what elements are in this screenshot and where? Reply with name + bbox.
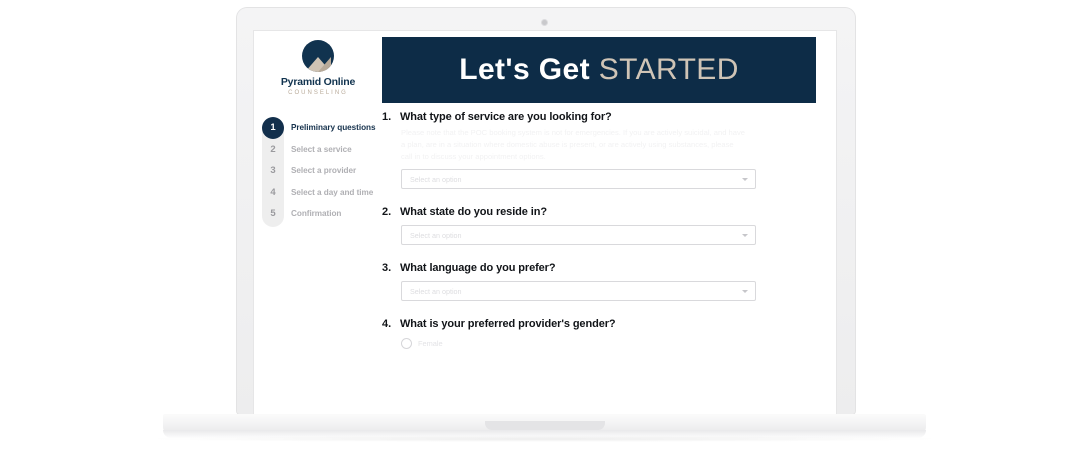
radio-label: Female (418, 339, 443, 348)
page-body: 1 Preliminary questions 2 Select a servi… (254, 103, 836, 366)
laptop-shadow (150, 436, 940, 442)
question-3: 3. What language do you prefer? Select a… (382, 262, 816, 301)
camera-dot-icon (542, 20, 547, 25)
questions-form: 1. What type of service are you looking … (382, 103, 836, 366)
radio-circle-icon (401, 338, 412, 349)
question-number: 3. (382, 262, 393, 274)
progress-stepper: 1 Preliminary questions 2 Select a servi… (254, 103, 382, 366)
laptop-screen: Pyramid Online COUNSELING Let's Get STAR… (254, 31, 836, 414)
question-heading: 1. What type of service are you looking … (382, 111, 816, 123)
step-label: Select a provider (291, 166, 356, 175)
question-text: What type of service are you looking for… (400, 111, 612, 123)
question-2: 2. What state do you reside in? Select a… (382, 206, 816, 245)
service-type-select[interactable]: Select an option (401, 169, 756, 189)
gender-radio-female[interactable]: Female (401, 338, 816, 349)
step-label: Select a service (291, 145, 352, 154)
chevron-down-icon (742, 234, 748, 237)
step-number: 1 (262, 117, 284, 139)
sidebar-item-select-a-day-and-time[interactable]: 4 Select a day and time (254, 182, 382, 204)
state-select[interactable]: Select an option (401, 225, 756, 245)
sidebar-item-confirmation[interactable]: 5 Confirmation (254, 203, 382, 225)
question-1: 1. What type of service are you looking … (382, 111, 816, 189)
sidebar-item-preliminary-questions[interactable]: 1 Preliminary questions (254, 117, 382, 139)
laptop-mockup: Pyramid Online COUNSELING Let's Get STAR… (0, 0, 1089, 465)
banner-title: Let's Get STARTED (459, 55, 739, 85)
brand-logo[interactable]: Pyramid Online COUNSELING (254, 31, 382, 103)
hero-banner: Let's Get STARTED (382, 37, 816, 103)
step-label: Select a day and time (291, 188, 373, 197)
question-number: 2. (382, 206, 393, 218)
question-text: What language do you prefer? (400, 262, 556, 274)
question-number: 4. (382, 318, 393, 330)
question-text: What is your preferred provider's gender… (400, 318, 616, 330)
question-text: What state do you reside in? (400, 206, 547, 218)
question-heading: 3. What language do you prefer? (382, 262, 816, 274)
question-number: 1. (382, 111, 393, 123)
step-label: Preliminary questions (291, 123, 376, 132)
step-number: 4 (262, 181, 284, 203)
select-placeholder: Select an option (410, 175, 462, 184)
question-description: Please note that the POC booking system … (401, 127, 747, 162)
chevron-down-icon (742, 290, 748, 293)
sidebar-item-select-a-service[interactable]: 2 Select a service (254, 139, 382, 161)
sidebar-item-select-a-provider[interactable]: 3 Select a provider (254, 160, 382, 182)
step-number: 2 (262, 138, 284, 160)
banner-title-bold: Let's Get (459, 53, 590, 86)
question-heading: 4. What is your preferred provider's gen… (382, 318, 816, 330)
select-placeholder: Select an option (410, 231, 462, 240)
step-label: Confirmation (291, 209, 341, 218)
brand-name: Pyramid Online (281, 77, 355, 88)
language-select[interactable]: Select an option (401, 281, 756, 301)
step-number: 5 (262, 203, 284, 225)
laptop-base-notch (485, 421, 605, 430)
brand-tagline: COUNSELING (288, 90, 348, 96)
chevron-down-icon (742, 178, 748, 181)
question-4: 4. What is your preferred provider's gen… (382, 318, 816, 349)
booking-page: Pyramid Online COUNSELING Let's Get STAR… (254, 31, 836, 414)
page-header: Pyramid Online COUNSELING Let's Get STAR… (254, 31, 836, 103)
select-placeholder: Select an option (410, 287, 462, 296)
pyramid-logo-icon (302, 40, 334, 72)
question-heading: 2. What state do you reside in? (382, 206, 816, 218)
step-number: 3 (262, 160, 284, 182)
banner-title-light: STARTED (599, 53, 739, 86)
